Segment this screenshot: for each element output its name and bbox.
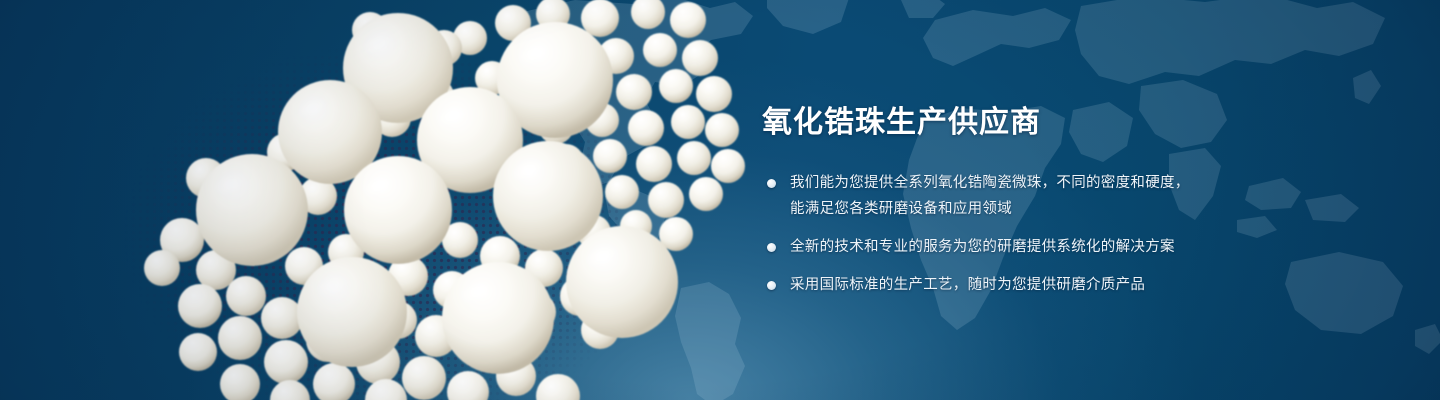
- feature-list: 我们能为您提供全系列氧化锆陶瓷微珠，不同的密度和硬度， 能满足您各类研磨设备和应…: [762, 170, 1402, 299]
- banner-content: 氧化锆珠生产供应商 我们能为您提供全系列氧化锆陶瓷微珠，不同的密度和硬度， 能满…: [762, 104, 1402, 299]
- list-item-text: 全新的技术和专业的服务为您的研磨提供系统化的解决方案: [790, 234, 1402, 261]
- list-item: 我们能为您提供全系列氧化锆陶瓷微珠，不同的密度和硬度， 能满足您各类研磨设备和应…: [762, 170, 1402, 224]
- list-item-line: 全新的技术和专业的服务为您的研磨提供系统化的解决方案: [790, 234, 1402, 261]
- list-item-line: 能满足您各类研磨设备和应用领域: [790, 196, 1402, 223]
- list-item: 采用国际标准的生产工艺，随时为您提供研磨介质产品: [762, 272, 1402, 299]
- list-item-text: 我们能为您提供全系列氧化锆陶瓷微珠，不同的密度和硬度， 能满足您各类研磨设备和应…: [790, 170, 1402, 224]
- page-title: 氧化锆珠生产供应商: [762, 104, 1402, 142]
- list-item-line: 采用国际标准的生产工艺，随时为您提供研磨介质产品: [790, 272, 1402, 299]
- bullet-dot-icon: [767, 179, 776, 188]
- list-item-line: 我们能为您提供全系列氧化锆陶瓷微珠，不同的密度和硬度，: [790, 170, 1402, 197]
- list-item-text: 采用国际标准的生产工艺，随时为您提供研磨介质产品: [790, 272, 1402, 299]
- list-item: 全新的技术和专业的服务为您的研磨提供系统化的解决方案: [762, 234, 1402, 261]
- hero-banner: 氧化锆珠生产供应商 我们能为您提供全系列氧化锆陶瓷微珠，不同的密度和硬度， 能满…: [0, 0, 1440, 400]
- bullet-dot-icon: [767, 243, 776, 252]
- bullet-dot-icon: [767, 281, 776, 290]
